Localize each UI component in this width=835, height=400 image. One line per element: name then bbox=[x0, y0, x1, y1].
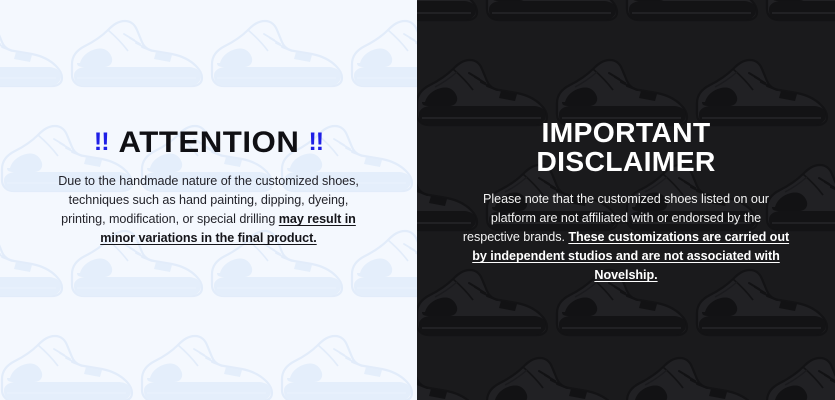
attention-content: !! ATTENTION !! Due to the handmade natu… bbox=[0, 128, 417, 249]
disclaimer-content: IMPORTANT DISCLAIMER Please note that th… bbox=[417, 118, 835, 286]
disclaimer-body: Please note that the customized shoes li… bbox=[461, 190, 791, 286]
disclaimer-heading-line2: DISCLAIMER bbox=[438, 147, 815, 176]
attention-heading: !! ATTENTION !! bbox=[26, 128, 391, 158]
disclaimer-banner: !! ATTENTION !! Due to the handmade natu… bbox=[0, 0, 835, 400]
attention-panel: !! ATTENTION !! Due to the handmade natu… bbox=[0, 0, 417, 400]
exclamation-right-icon: !! bbox=[308, 130, 323, 155]
disclaimer-panel: IMPORTANT DISCLAIMER Please note that th… bbox=[417, 0, 835, 400]
attention-body: Due to the handmade nature of the custom… bbox=[54, 172, 364, 249]
attention-heading-text: ATTENTION bbox=[118, 128, 299, 158]
disclaimer-heading: IMPORTANT DISCLAIMER bbox=[438, 118, 815, 177]
exclamation-left-icon: !! bbox=[94, 130, 109, 155]
disclaimer-heading-line1: IMPORTANT bbox=[438, 118, 815, 147]
